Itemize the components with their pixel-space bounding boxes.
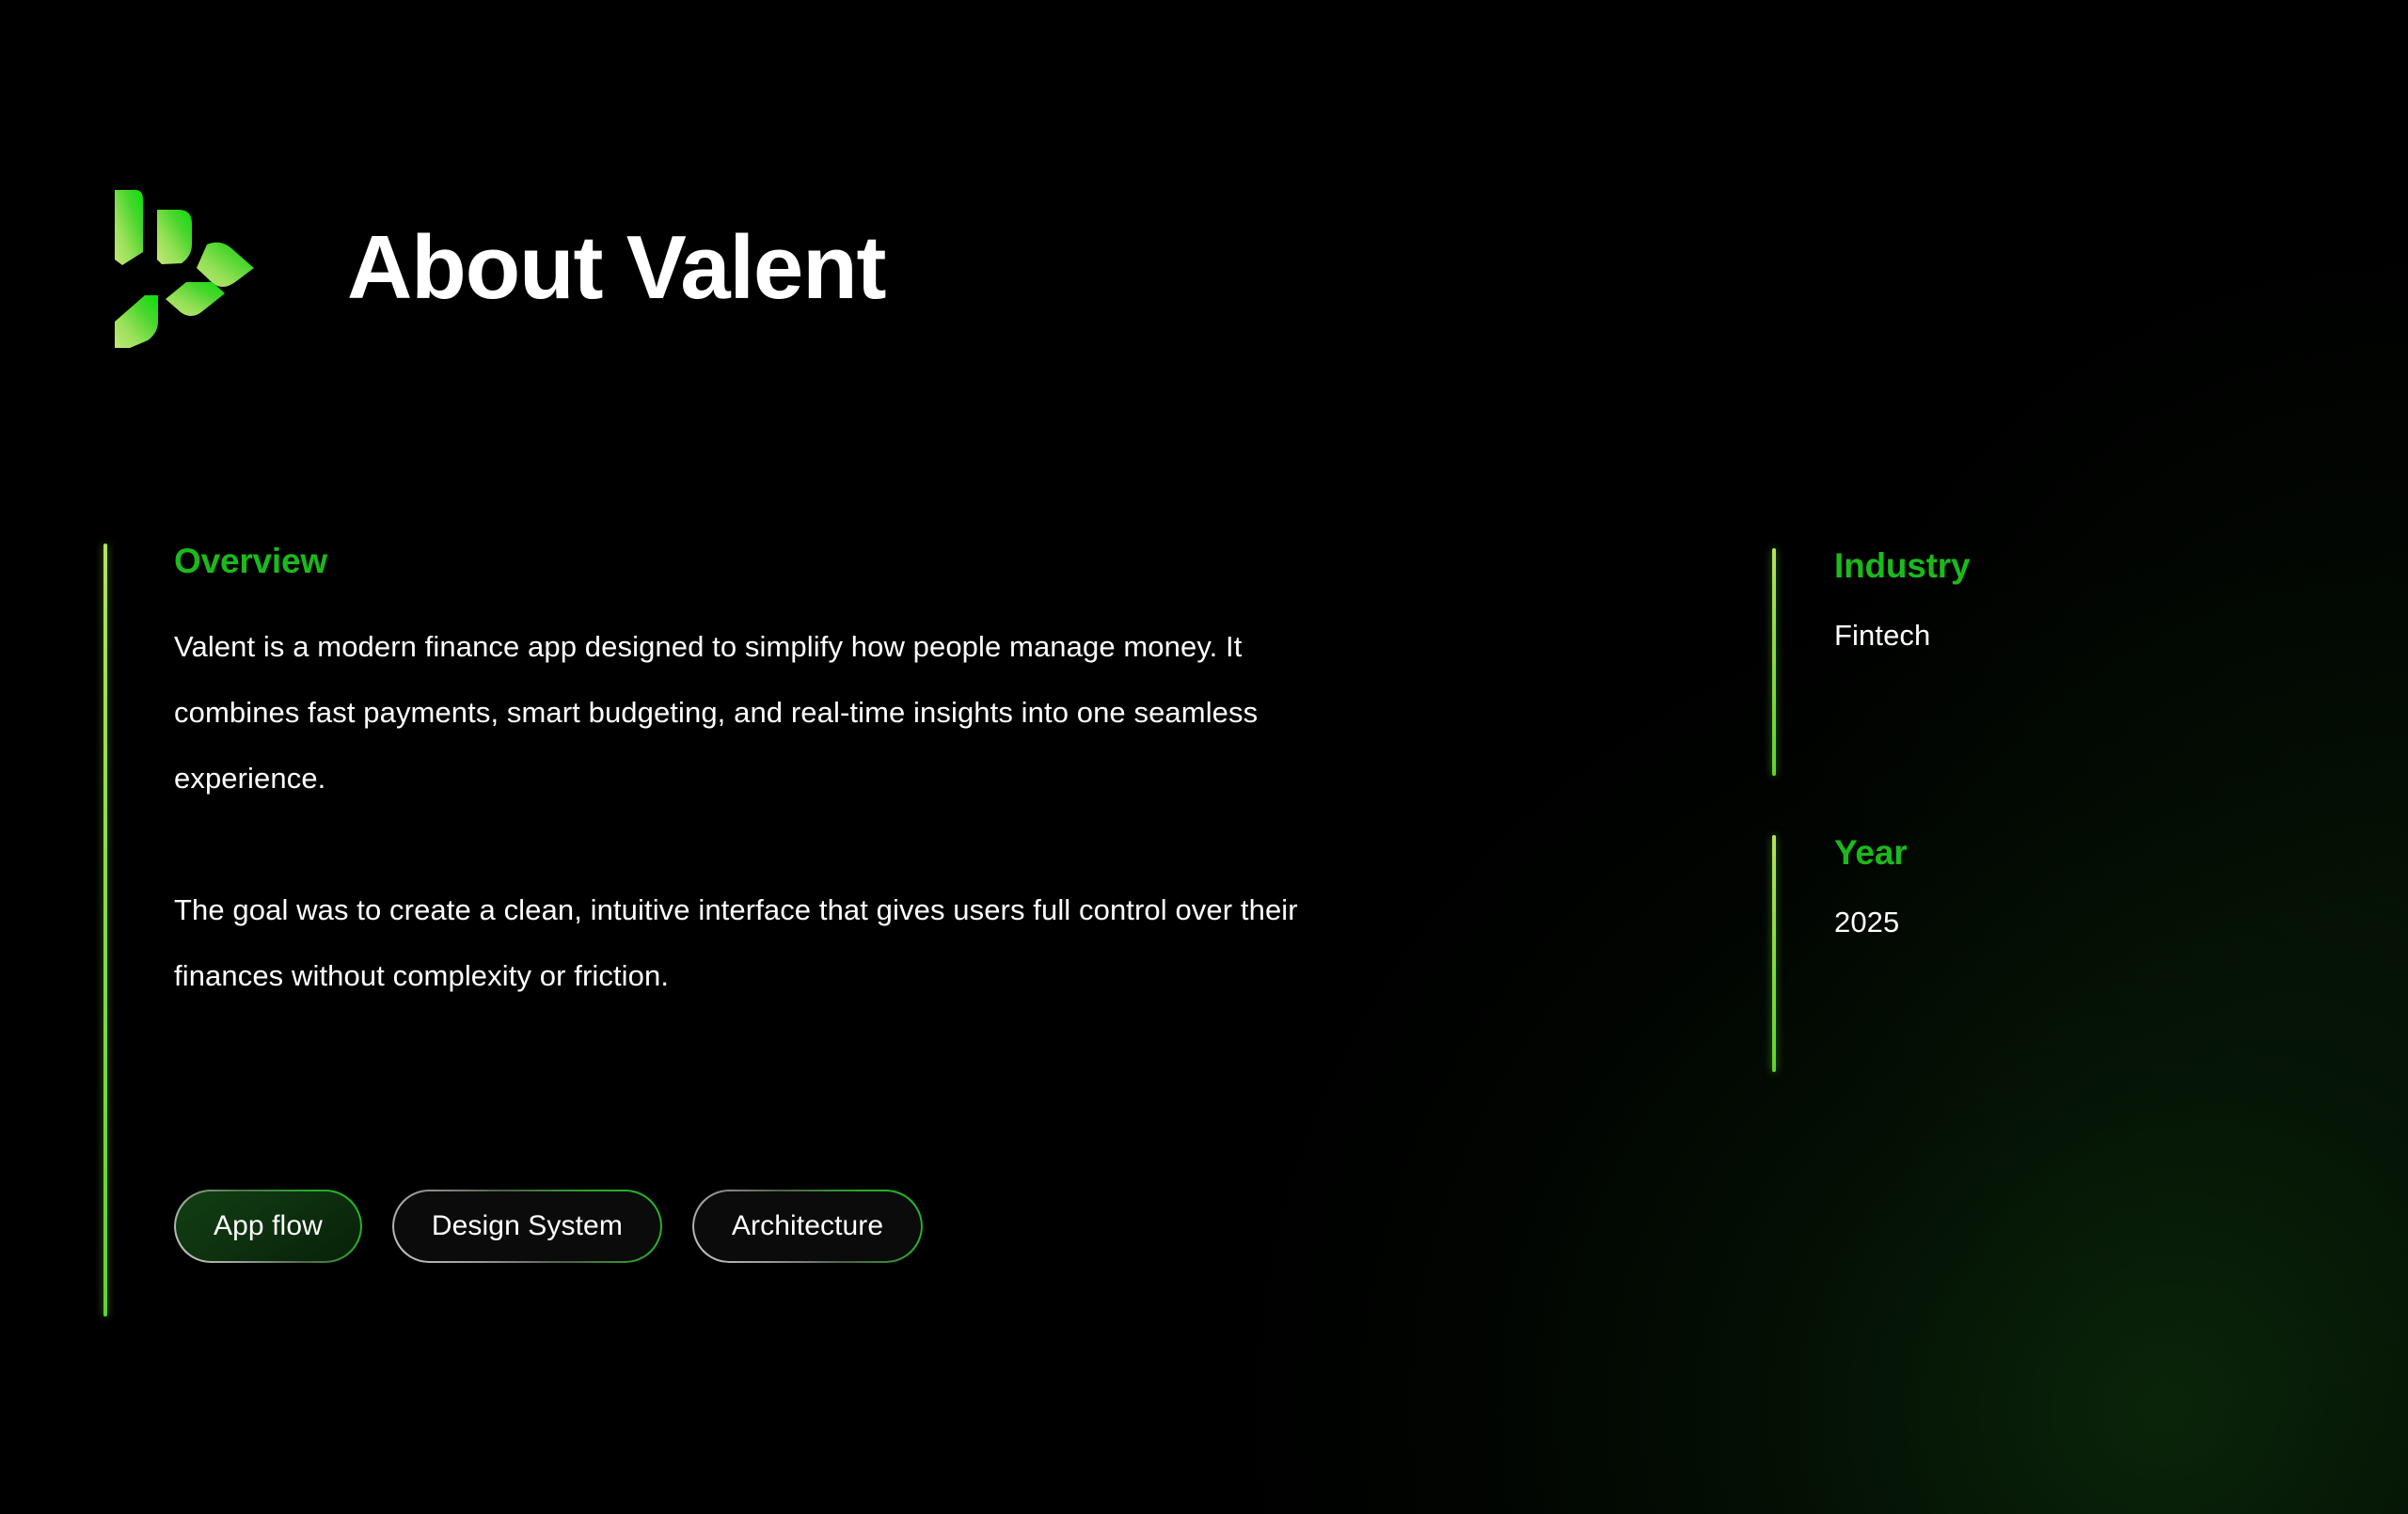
tab-app-flow[interactable]: App flow [174, 1190, 362, 1263]
meta-block-industry: Industry Fintech [1772, 548, 2337, 776]
tab-architecture[interactable]: Architecture [692, 1190, 923, 1263]
overview-paragraph-1: Valent is a modern finance app designed … [174, 614, 1331, 812]
page-header: About Valent [103, 179, 885, 357]
overview-accent-bar [103, 544, 107, 1317]
section-tabs: App flow Design System Architecture [174, 1190, 923, 1263]
overview-body: Valent is a modern finance app designed … [174, 614, 1331, 1009]
meta-panel: Industry Fintech Year 2025 [1772, 0, 2337, 465]
overview-paragraph-2: The goal was to create a clean, intuitiv… [174, 877, 1331, 1009]
meta-block-year: Year 2025 [1772, 835, 2337, 1072]
year-accent-bar [1772, 835, 1776, 1072]
page-title: About Valent [347, 223, 885, 313]
about-valent-page: About Valent Overview Valent is a modern… [0, 0, 2408, 1514]
year-heading: Year [1834, 835, 2337, 870]
industry-accent-bar [1772, 548, 1776, 776]
tab-design-system[interactable]: Design System [392, 1190, 662, 1263]
tab-design-system-label: Design System [432, 1210, 623, 1242]
industry-heading: Industry [1834, 548, 2337, 583]
year-value: 2025 [1834, 907, 2337, 937]
tab-architecture-label: Architecture [732, 1210, 883, 1242]
valent-arrow-logo [103, 179, 259, 357]
industry-value: Fintech [1834, 621, 2337, 650]
overview-heading: Overview [174, 544, 1420, 578]
tab-app-flow-label: App flow [214, 1210, 323, 1242]
